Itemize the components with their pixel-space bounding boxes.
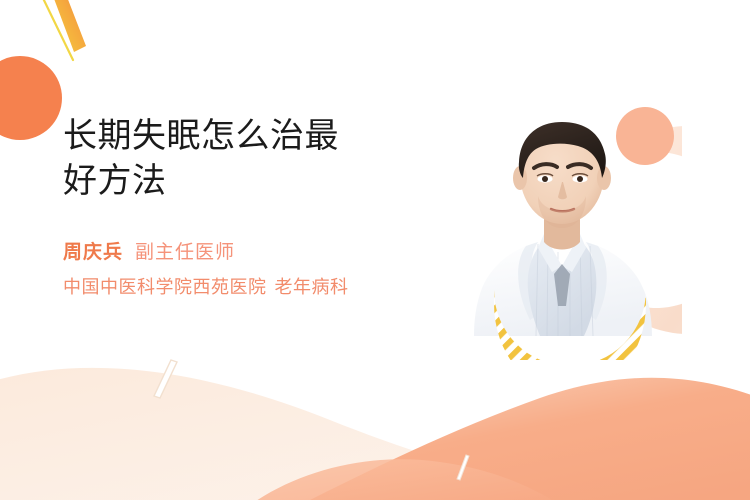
doctor-name-row: 周庆兵副主任医师	[63, 236, 443, 270]
page-title: 长期失眠怎么治最 好方法	[63, 114, 443, 204]
bottom-left-wave-decoration	[0, 368, 640, 500]
outline-slash-small-decoration	[457, 455, 469, 480]
bottom-right-wave-back-decoration	[300, 378, 750, 500]
pupil-left	[542, 176, 548, 182]
pupil-right	[577, 176, 583, 182]
portrait-illustration	[452, 92, 682, 360]
thin-yellow-ribbon-decoration	[40, 0, 73, 60]
salmon-circle-decoration	[616, 107, 674, 165]
text-content-block: 长期失眠怎么治最 好方法 周庆兵副主任医师 中国中医科学院西苑医院老年病科	[63, 114, 443, 305]
doctor-name: 周庆兵	[63, 242, 123, 263]
article-cover-card: 长期失眠怎么治最 好方法 周庆兵副主任医师 中国中医科学院西苑医院老年病科	[0, 0, 750, 500]
doctor-portrait-group	[452, 92, 682, 360]
orange-circle-decoration	[0, 56, 62, 140]
doctor-affiliation: 中国中医科学院西苑医院	[63, 277, 267, 297]
doctor-department: 老年病科	[275, 277, 349, 297]
bottom-right-wave-front-decoration	[250, 459, 560, 500]
doctor-affiliation-row: 中国中医科学院西苑医院老年病科	[63, 270, 443, 305]
doctor-title: 副主任医师	[135, 242, 235, 263]
doctor-credits: 周庆兵副主任医师 中国中医科学院西苑医院老年病科	[63, 236, 443, 305]
outline-slash-decoration	[154, 360, 177, 398]
thick-gradient-ribbon-decoration	[50, 0, 86, 52]
